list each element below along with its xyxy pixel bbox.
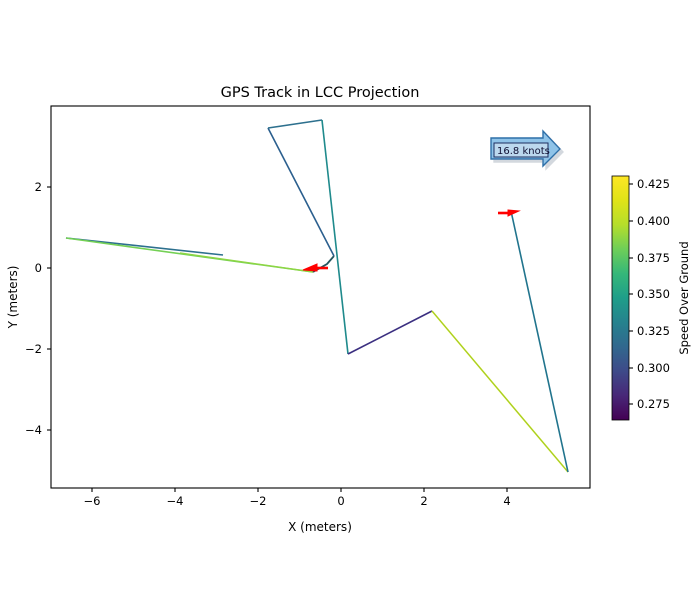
annotation-label: 16.8 knots <box>497 146 550 157</box>
page-title: GPS Track in LCC Projection <box>221 85 420 101</box>
colorbar-tick-label: 0.400 <box>637 214 670 228</box>
y-tick-label: −2 <box>25 342 42 356</box>
figure-canvas: GPS Track in LCC Projection <box>0 0 700 600</box>
x-axis-ticks <box>92 488 507 492</box>
x-tick-label: −6 <box>84 494 101 508</box>
plot-area-background <box>51 106 590 488</box>
colorbar-tick-labels: 0.425 0.400 0.375 0.350 0.325 0.300 0.27… <box>637 177 670 411</box>
x-tick-label: 2 <box>420 494 427 508</box>
colorbar-tick-label: 0.375 <box>637 251 670 265</box>
x-axis-label: X (meters) <box>288 520 352 534</box>
colorbar-ticks <box>629 184 633 404</box>
y-axis-tick-labels: 2 0 −2 −4 <box>25 180 42 437</box>
y-tick-label: −4 <box>25 423 42 437</box>
y-tick-label: 2 <box>35 180 42 194</box>
x-tick-label: 0 <box>337 494 344 508</box>
colorbar-label: Speed Over Ground <box>677 241 691 354</box>
colorbar-tick-label: 0.425 <box>637 177 670 191</box>
y-axis-ticks <box>47 187 51 430</box>
x-tick-label: 4 <box>503 494 510 508</box>
colorbar-tick-label: 0.325 <box>637 324 670 338</box>
y-tick-label: 0 <box>35 261 42 275</box>
x-tick-label: −2 <box>250 494 267 508</box>
y-axis-label: Y (meters) <box>6 266 20 330</box>
colorbar-tick-label: 0.275 <box>637 397 670 411</box>
colorbar-tick-label: 0.300 <box>637 361 670 375</box>
colorbar-gradient[interactable] <box>612 176 629 420</box>
colorbar-tick-label: 0.350 <box>637 287 670 301</box>
x-tick-label: −4 <box>167 494 184 508</box>
x-axis-tick-labels: −6 −4 −2 0 2 4 <box>84 494 511 508</box>
gps-track-chart: GPS Track in LCC Projection <box>0 0 700 600</box>
